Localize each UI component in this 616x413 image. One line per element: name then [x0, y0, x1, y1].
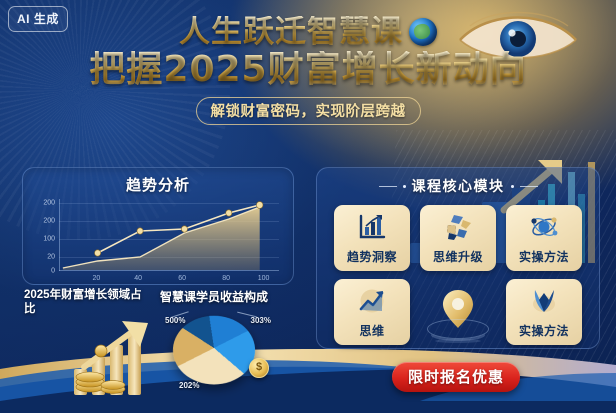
- atom-network-icon: [529, 212, 559, 242]
- wealth-growth-label: 2025年财富增长领域占比: [24, 288, 152, 317]
- x-tick: 100: [258, 275, 270, 282]
- x-tick: 20: [92, 275, 100, 282]
- module-label: 思维升级: [433, 248, 483, 265]
- trend-arrow-circle-icon: [357, 286, 387, 316]
- module-card-mindset-upgrade[interactable]: 思维升级: [420, 205, 496, 271]
- y-tick: 200: [43, 200, 55, 207]
- pie-label: 500%: [165, 316, 185, 325]
- trend-panel-title: 趋势分析: [23, 174, 293, 195]
- x-tick: 40: [134, 275, 142, 282]
- y-tick: 200: [43, 218, 55, 225]
- earnings-pie-chart: 500% 303% 202% $: [165, 302, 273, 394]
- y-tick: 0: [51, 268, 55, 275]
- module-label: 实操方法: [519, 248, 569, 265]
- module-label: 思维: [359, 322, 384, 339]
- module-card-thinking[interactable]: 思维: [334, 279, 410, 345]
- divider-dash-right: [520, 186, 538, 187]
- x-tick: 80: [222, 275, 230, 282]
- pie-label: 303%: [251, 316, 271, 325]
- page-title: 人生跃迁智慧课: [179, 16, 403, 49]
- gold-bars-coins-art: [70, 315, 175, 395]
- module-card-trend-insight[interactable]: 趋势洞察: [334, 205, 410, 271]
- y-tick: 100: [43, 236, 55, 243]
- module-label: 趋势洞察: [347, 248, 397, 265]
- y-tick: 20: [47, 254, 55, 261]
- poster-canvas: AI 生成: [0, 0, 616, 413]
- tagline-pill: 解锁财富密码，实现阶层跨越: [196, 97, 421, 125]
- trend-plot-area: [59, 199, 279, 271]
- bar-chart-icon: [357, 212, 387, 242]
- modules-row-2: 思维: [317, 279, 599, 345]
- module-card-practical-method[interactable]: 实操方法: [506, 205, 582, 271]
- trend-chart: 200 200 100 20 0: [29, 199, 283, 283]
- course-modules-panel: 课程核心模块 趋势洞察: [316, 167, 600, 349]
- diamond-wings-icon: [529, 286, 559, 316]
- x-axis-labels: 20 40 60 80 100: [59, 275, 279, 285]
- module-label: 实操方法: [519, 322, 569, 339]
- puzzle-shapes-icon: [443, 212, 473, 242]
- modules-header: 课程核心模块: [317, 176, 599, 196]
- pie-label: 202%: [179, 381, 199, 390]
- ripple-decoration: [427, 319, 489, 339]
- page-subtitle-main: 把握2025财富增长新动向: [0, 51, 616, 89]
- divider-dot-right: [511, 185, 514, 188]
- module-card-practical-method-2[interactable]: 实操方法: [506, 279, 582, 345]
- title-line-1-row: 人生跃迁智慧课: [0, 16, 616, 49]
- y-axis-labels: 200 200 100 20 0: [29, 199, 55, 271]
- ai-generated-badge: AI 生成: [8, 6, 68, 32]
- divider-dot-left: [403, 185, 406, 188]
- globe-icon: [409, 18, 437, 46]
- divider-dash-left: [379, 186, 397, 187]
- x-tick: 60: [178, 275, 186, 282]
- limited-time-offer-badge[interactable]: 限时报名优惠: [392, 362, 520, 392]
- pie-chart-title: 智慧课学员收益构成: [160, 288, 268, 305]
- header-titles: 人生跃迁智慧课 把握2025财富增长新动向 解锁财富密码，实现阶层跨越: [0, 16, 616, 125]
- coin-icon: $: [249, 358, 269, 378]
- pie-graphic: [170, 316, 257, 385]
- modules-title: 课程核心模块: [412, 176, 505, 196]
- modules-row-1: 趋势洞察 思维升级: [317, 205, 599, 271]
- map-pin-slot: [420, 279, 496, 345]
- trend-analysis-panel: 趋势分析 200 200 100 20 0: [22, 167, 294, 285]
